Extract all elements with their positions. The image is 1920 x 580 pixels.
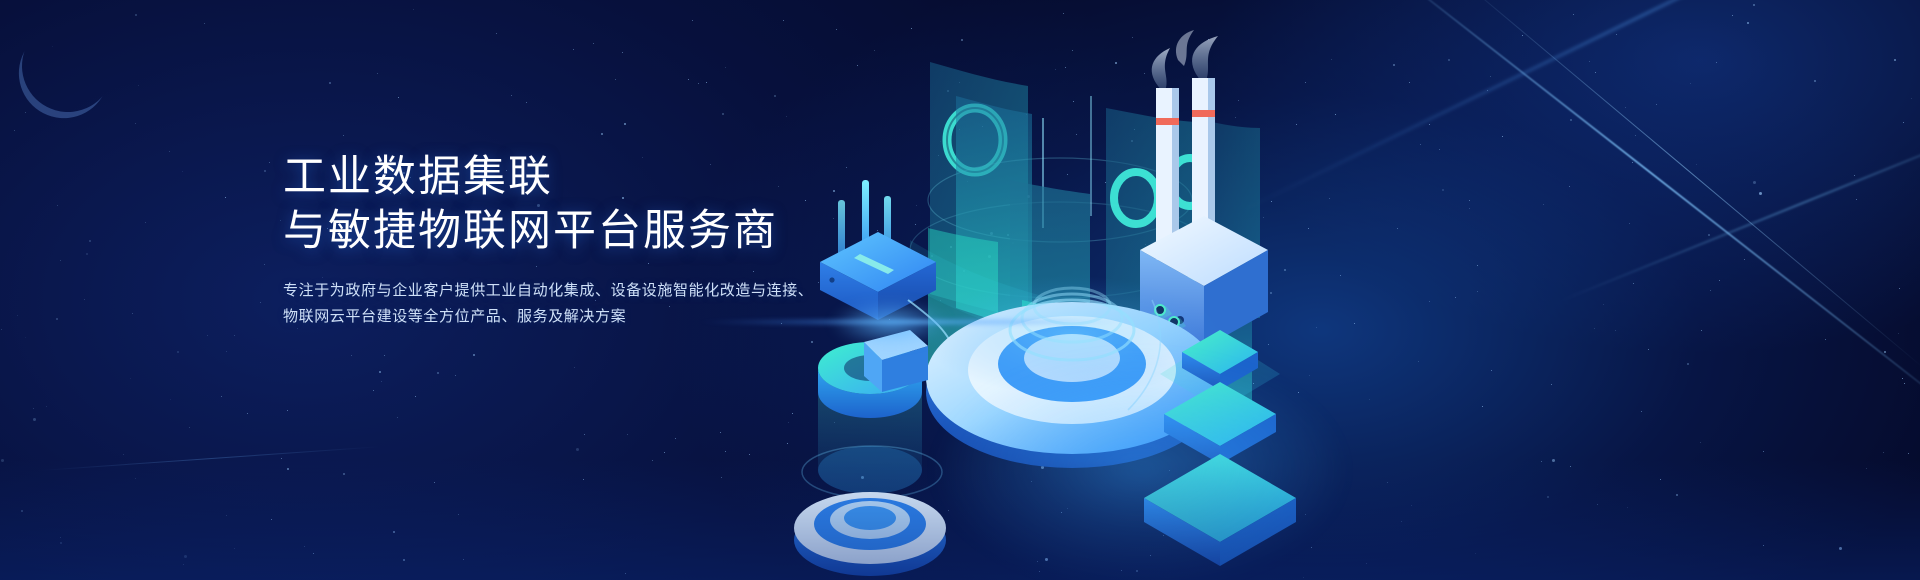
headline-line-1: 工业数据集联 <box>283 150 903 204</box>
subtitle-line-2: 物联网云平台建设等全方位产品、服务及解决方案 <box>283 304 903 330</box>
headline-line-2: 与敏捷物联网平台服务商 <box>283 204 903 258</box>
platform-disc <box>794 492 946 576</box>
hero-copy: 工业数据集联 与敏捷物联网平台服务商 专注于为政府与企业客户提供工业自动化集成、… <box>283 150 903 330</box>
subtitle-line-1: 专注于为政府与企业客户提供工业自动化集成、设备设施智能化改造与连接、 <box>283 278 903 304</box>
floor-glow <box>930 350 1350 580</box>
hero-banner: 工业数据集联 与敏捷物联网平台服务商 专注于为政府与企业客户提供工业自动化集成、… <box>0 0 1920 580</box>
cylinder-gauge <box>802 330 942 498</box>
light-streak-icon <box>40 446 379 471</box>
moon-arc-icon <box>11 9 125 123</box>
headline-glow-dot <box>830 300 950 346</box>
